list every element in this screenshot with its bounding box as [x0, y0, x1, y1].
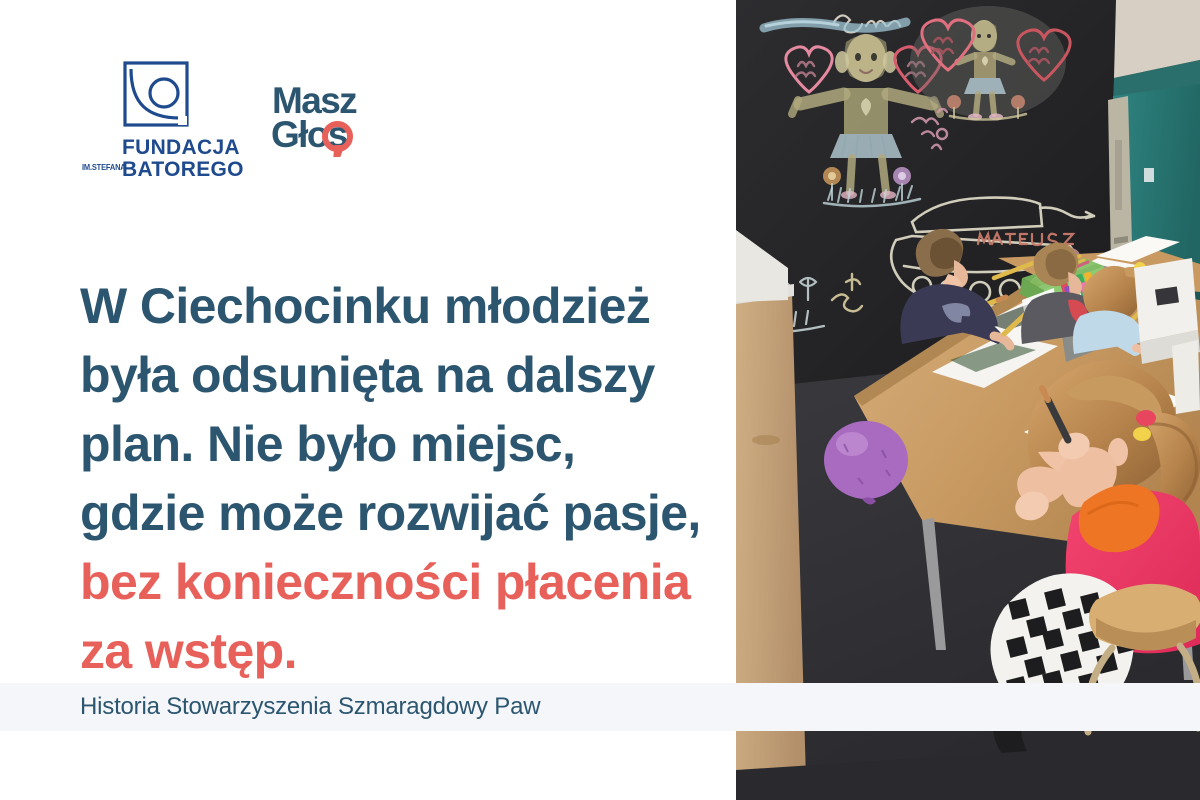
- headline-line-1: W Ciechocinku młodzież: [80, 272, 740, 341]
- batory-line-batorego: BATOREGO: [122, 158, 244, 182]
- headline-line-5: bez konieczności płacenia: [80, 548, 740, 617]
- batory-wordmark: IM.STEFANA FUNDACJA BATOREGO: [82, 136, 262, 182]
- headline-line-6: za wstęp.: [80, 617, 740, 686]
- photo-children-drawing: [736, 0, 1200, 800]
- batory-im-stefana: IM.STEFANA: [82, 162, 126, 172]
- batory-foundation-logo: IM.STEFANA FUNDACJA BATOREGO: [82, 60, 262, 182]
- headline-line-2: była odsunięta na dalszy: [80, 341, 740, 410]
- batory-line-fundacja: FUNDACJA: [122, 136, 240, 160]
- left-text-panel: IM.STEFANA FUNDACJA BATOREGO Masz Głos W…: [0, 0, 736, 800]
- batory-foundation-mark-icon: [122, 60, 192, 130]
- headline-line-4: gdzie może rozwijać pasje,: [80, 479, 740, 548]
- photo-illustration: [736, 0, 1200, 800]
- headline-line-3: plan. Nie było miejsc,: [80, 410, 740, 479]
- speech-bubble-icon: [322, 121, 353, 152]
- caption-band: Historia Stowarzyszenia Szmaragdowy Paw: [0, 683, 1200, 731]
- caption-text: Historia Stowarzyszenia Szmaragdowy Paw: [80, 693, 540, 721]
- poster-root: IM.STEFANA FUNDACJA BATOREGO Masz Głos W…: [0, 0, 1200, 800]
- logo-row: IM.STEFANA FUNDACJA BATOREGO Masz Głos: [82, 60, 642, 180]
- masz-glos-logo: Masz Głos: [272, 82, 392, 174]
- headline-quote: W Ciechocinku młodzież była odsunięta na…: [80, 272, 740, 686]
